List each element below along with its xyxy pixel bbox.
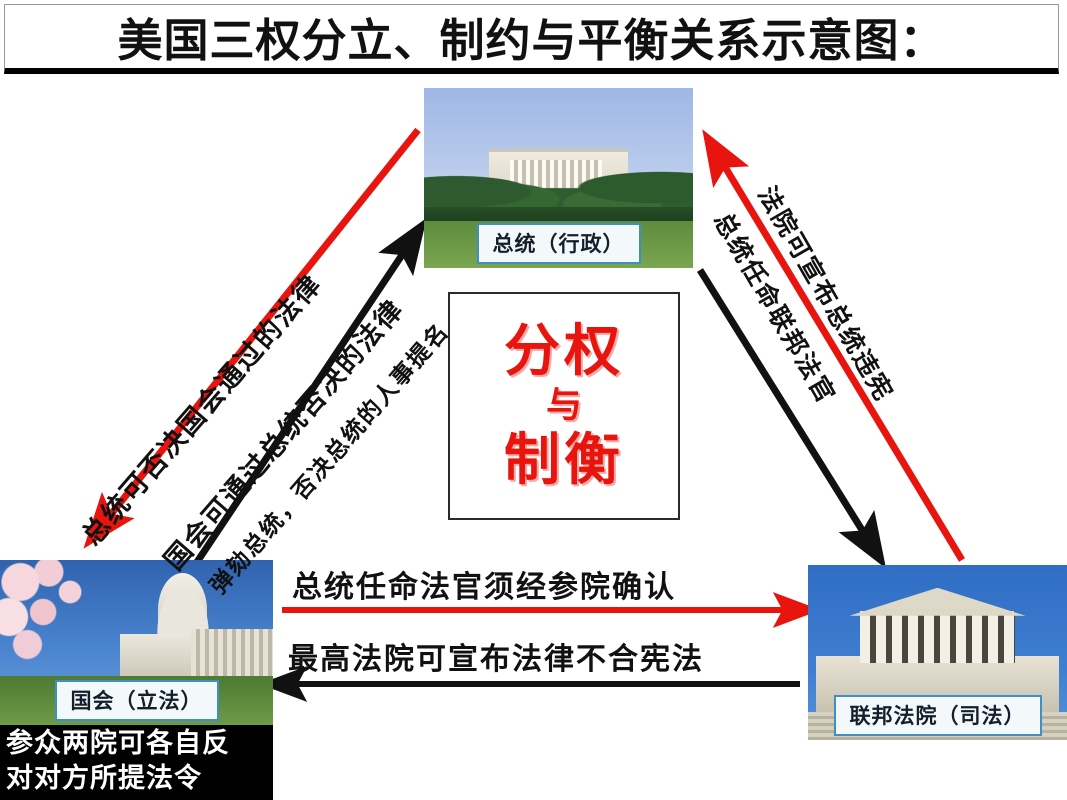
- note-box-line-1: 参众两院可各自反: [6, 727, 267, 762]
- center-line-3: 制衡: [504, 431, 624, 490]
- label-law-unconstitutional: 最高法院可宣布法律不合宪法: [288, 634, 704, 678]
- center-line-2: 与: [546, 387, 582, 425]
- node-president[interactable]: 总统（行政）: [424, 88, 693, 268]
- note-box-line-2: 对对方所提法令: [6, 762, 267, 797]
- center-line-1: 分权: [504, 322, 624, 381]
- diagram-canvas: 美国三权分立、制约与平衡关系示意图：: [0, 0, 1067, 800]
- center-concept-box: 分权 与 制衡: [448, 292, 680, 520]
- node-president-caption: 总统（行政）: [477, 223, 641, 264]
- node-federal-court-caption: 联邦法院（司法）: [834, 695, 1042, 736]
- node-congress-caption: 国会（立法）: [55, 680, 219, 721]
- node-federal-court[interactable]: 联邦法院（司法）: [808, 565, 1067, 740]
- note-box-congress: 参众两院可各自反 对对方所提法令: [0, 725, 273, 800]
- label-senate-confirmation: 总统任命法官须经参院确认: [292, 562, 676, 606]
